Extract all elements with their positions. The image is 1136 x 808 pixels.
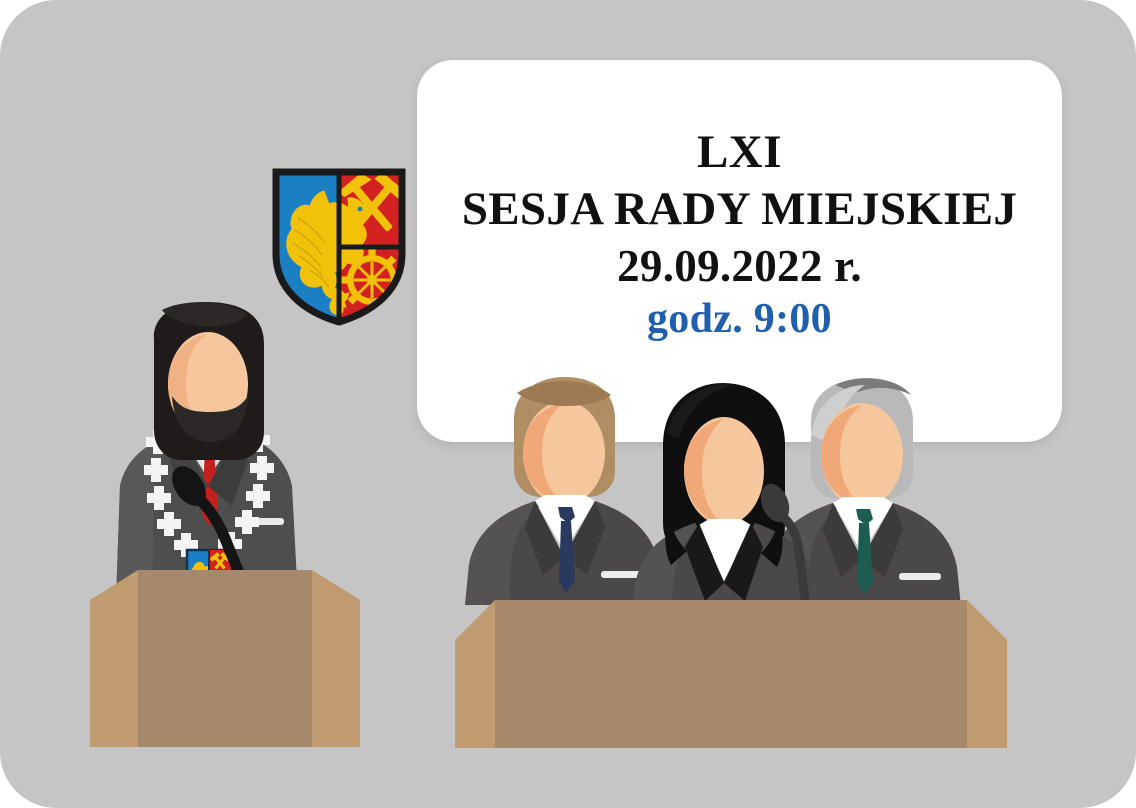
- session-date: 29.09.2022 r.: [417, 239, 1062, 294]
- table-front: [495, 600, 967, 748]
- council-presidium: [455, 375, 1025, 760]
- session-number: LXI: [417, 124, 1062, 181]
- lectern: [90, 570, 360, 747]
- speaker-head: [154, 302, 264, 460]
- speaker-at-lectern: [90, 300, 360, 760]
- councillor-left-pocket-square: [601, 571, 643, 578]
- councillor-right-pocket-square: [899, 573, 941, 580]
- announcement-text-block: LXI SESJA RADY MIEJSKIEJ 29.09.2022 r. g…: [417, 124, 1062, 345]
- councillor-center: [631, 383, 819, 621]
- poster-canvas: LXI SESJA RADY MIEJSKIEJ 29.09.2022 r. g…: [0, 0, 1136, 808]
- session-title: SESJA RADY MIEJSKIEJ: [417, 181, 1062, 238]
- councillor-left: [465, 377, 663, 605]
- lectern-front: [138, 570, 312, 747]
- session-time: godz. 9:00: [417, 294, 1062, 345]
- presidium-table: [455, 600, 1007, 748]
